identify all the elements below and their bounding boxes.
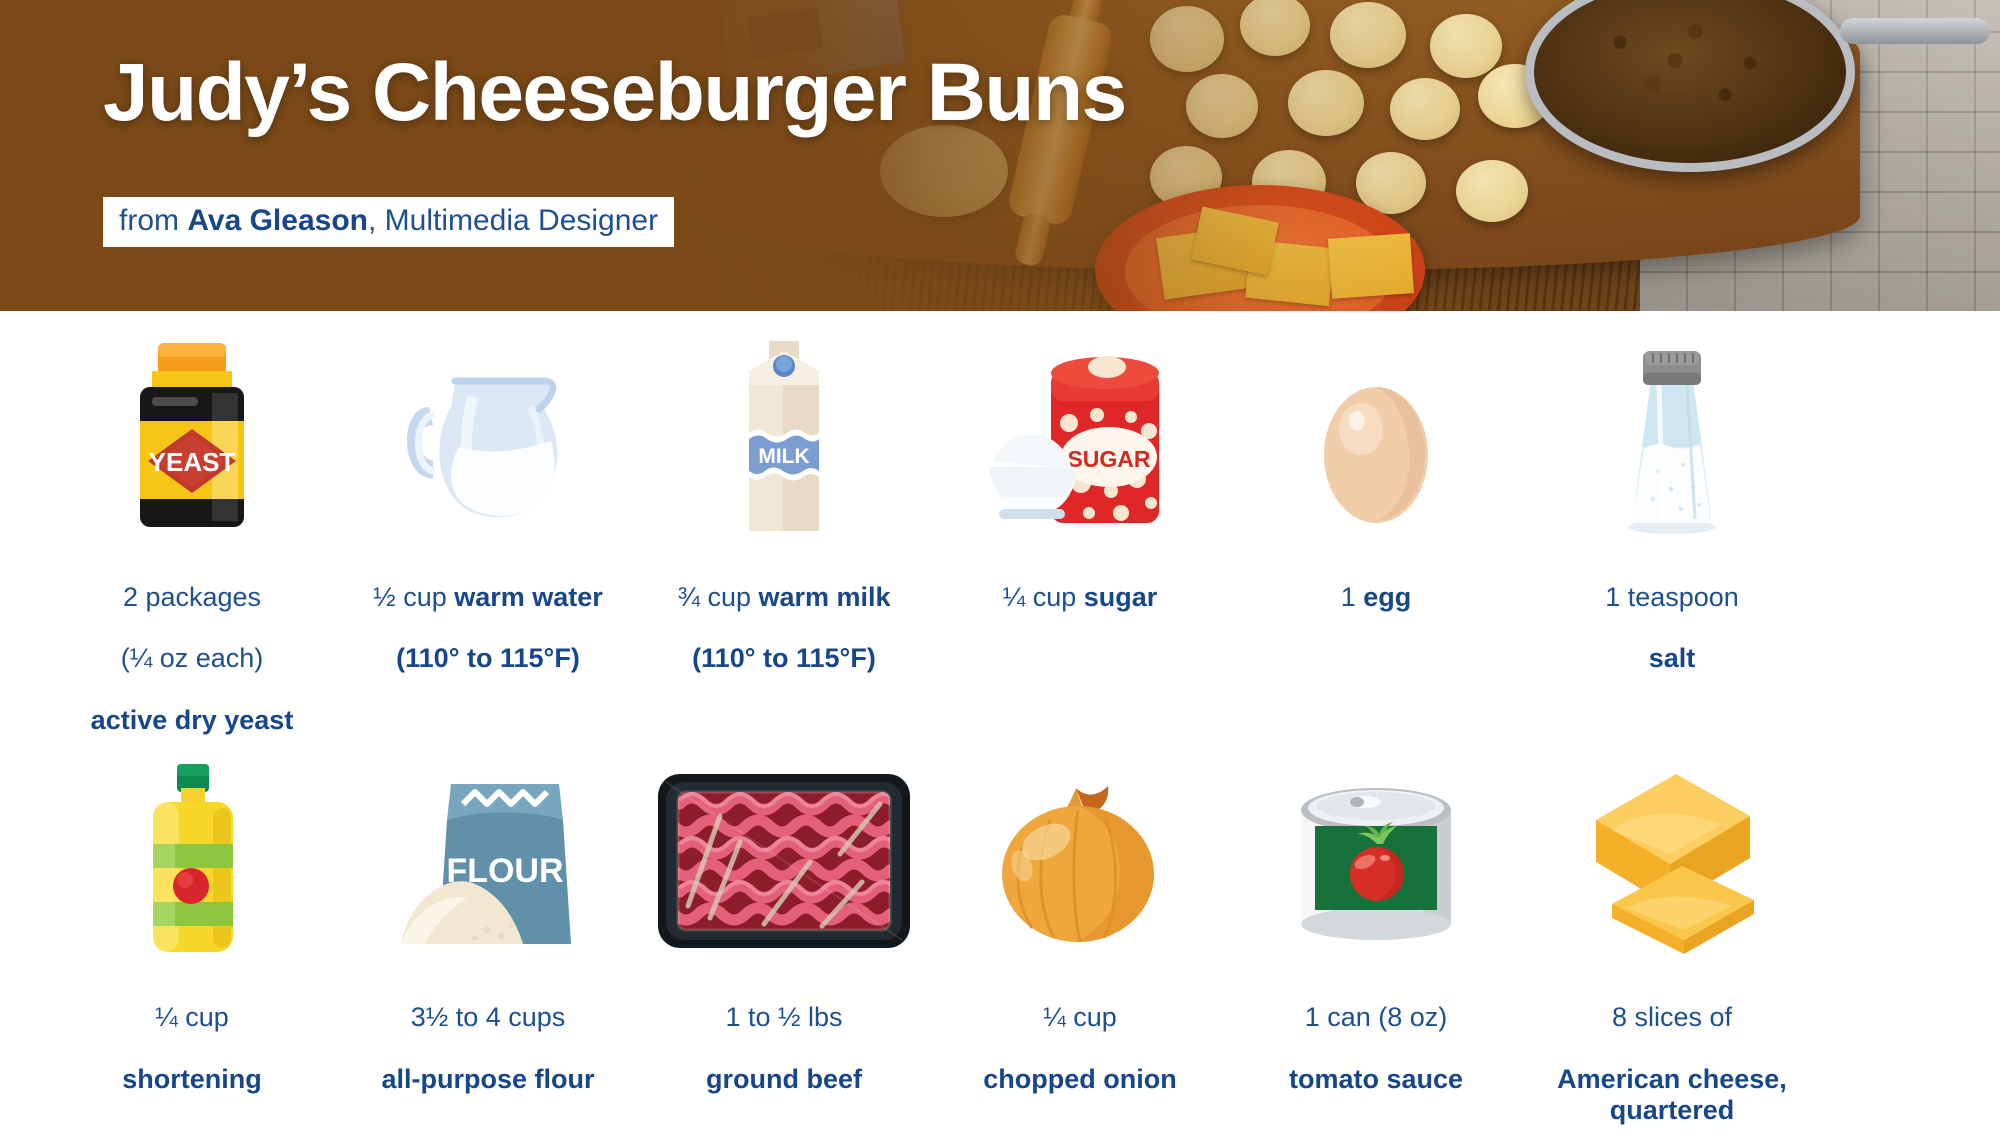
caption-line-1: 3½ to 4 cups — [411, 1002, 566, 1032]
ingredient-item-tomato-sauce: 1 can (8 oz) tomato sauce — [1228, 750, 1524, 1126]
caption-line-1: ¼ cup — [1043, 1002, 1117, 1032]
ingredient-caption: 8 slices of American cheese, quartered — [1557, 972, 1787, 1126]
ingredient-item-salt: 1 teaspoon salt — [1524, 329, 1820, 736]
caption-line-2: (¼ oz each) — [121, 643, 264, 673]
caption-line-1: 1 to ½ lbs — [725, 1002, 842, 1032]
shortening-bottle-icon — [127, 750, 257, 958]
caption-line-1: ¼ cup — [1003, 582, 1084, 612]
yeast-label-text: YEAST — [149, 447, 236, 477]
sugar-canister-icon: SUGAR — [985, 329, 1175, 537]
ingredient-caption: ¼ cup chopped onion — [983, 972, 1176, 1095]
caption-line-1-bold: warm water — [454, 582, 603, 612]
yeast-jar-icon: YEAST — [112, 329, 272, 537]
cheese-slices-icon — [1572, 750, 1772, 958]
caption-line-3: (110° to 115°F) — [396, 643, 580, 673]
caption-line-1: 8 slices of — [1612, 1002, 1732, 1032]
page-title: Judy’s Cheeseburger Buns — [103, 52, 1126, 134]
byline-suffix: , Multimedia Designer — [368, 204, 658, 237]
caption-line-1-bold: egg — [1363, 582, 1411, 612]
ingredients-row-2: ¼ cup shortening FLOUR — [44, 736, 2000, 1126]
caption-line-1: 1 — [1341, 582, 1364, 612]
water-pitcher-icon — [393, 329, 583, 537]
caption-line-1: 1 can (8 oz) — [1305, 1002, 1448, 1032]
milk-label-text: MILK — [758, 445, 809, 468]
caption-line-1: 2 packages — [123, 582, 261, 612]
milk-carton-icon: MILK — [719, 329, 849, 537]
ingredient-item-shortening: ¼ cup shortening — [44, 750, 340, 1126]
ingredient-item-sugar: SUGAR ¼ cup sugar — [932, 329, 1228, 736]
ingredient-caption: 1 to ½ lbs ground beef — [706, 972, 862, 1095]
ingredient-caption: ¼ cup shortening — [122, 972, 262, 1095]
onion-icon — [980, 750, 1180, 958]
caption-line-1: 1 teaspoon — [1605, 582, 1739, 612]
caption-line-3: ground beef — [706, 1064, 862, 1094]
ingredient-item-yeast: YEAST 2 packages (¼ oz each) active dry … — [44, 329, 340, 736]
ingredient-item-onion: ¼ cup chopped onion — [932, 750, 1228, 1126]
caption-line-3: salt — [1649, 643, 1696, 673]
caption-line-3: American cheese, quartered — [1557, 1064, 1787, 1125]
ingredients-grid: YEAST 2 packages (¼ oz each) active dry … — [0, 311, 2000, 1125]
ingredient-item-ground-beef: 1 to ½ lbs ground beef — [636, 750, 932, 1126]
caption-line-3: active dry yeast — [91, 705, 294, 735]
ingredients-row-1: YEAST 2 packages (¼ oz each) active dry … — [44, 311, 2000, 736]
ground-beef-tray-icon — [644, 750, 924, 958]
flour-bag-icon: FLOUR — [383, 750, 593, 958]
ingredient-caption: ½ cup warm water (110° to 115°F) — [373, 551, 603, 674]
ingredient-item-egg: 1 egg — [1228, 329, 1524, 736]
caption-line-1-bold: sugar — [1084, 582, 1158, 612]
ingredient-caption: 1 can (8 oz) tomato sauce — [1289, 972, 1463, 1095]
caption-line-3: all-purpose flour — [381, 1064, 594, 1094]
sugar-label-text: SUGAR — [1067, 446, 1150, 472]
caption-line-3: tomato sauce — [1289, 1064, 1463, 1094]
ingredient-caption: 3½ to 4 cups all-purpose flour — [381, 972, 594, 1095]
caption-line-1: ¼ cup — [155, 1002, 229, 1032]
caption-line-1: ½ cup — [373, 582, 454, 612]
ingredient-item-american-cheese: 8 slices of American cheese, quartered — [1524, 750, 1820, 1126]
byline-prefix: from — [119, 204, 187, 237]
ingredient-caption: 1 teaspoon salt — [1605, 551, 1739, 674]
egg-icon — [1311, 329, 1441, 537]
ingredient-item-flour: FLOUR 3½ to 4 cups all-purpose flour — [340, 750, 636, 1126]
caption-line-1: ¾ cup — [677, 582, 758, 612]
ingredient-item-warm-water: ½ cup warm water (110° to 115°F) — [340, 329, 636, 736]
salt-shaker-icon — [1607, 329, 1737, 537]
header-banner: Judy’s Cheeseburger Buns from Ava Gleaso… — [0, 0, 2000, 311]
ingredient-caption: 2 packages (¼ oz each) active dry yeast — [91, 551, 294, 736]
ingredient-caption: ¼ cup sugar — [1003, 551, 1158, 613]
ingredient-caption: 1 egg — [1341, 551, 1412, 613]
caption-line-1-bold: warm milk — [759, 582, 891, 612]
caption-line-3: (110° to 115°F) — [692, 643, 876, 673]
caption-line-3: shortening — [122, 1064, 262, 1094]
byline: from Ava Gleason, Multimedia Designer — [103, 197, 674, 247]
recipe-ingredients-infographic: Judy’s Cheeseburger Buns from Ava Gleaso… — [0, 0, 2000, 1142]
ingredient-caption: ¾ cup warm milk (110° to 115°F) — [677, 551, 890, 674]
tomato-sauce-can-icon — [1281, 750, 1471, 958]
ingredient-item-warm-milk: MILK ¾ cup warm milk (110° to 115°F) — [636, 329, 932, 736]
caption-line-3: chopped onion — [983, 1064, 1176, 1094]
byline-author-name: Ava Gleason — [187, 204, 368, 237]
